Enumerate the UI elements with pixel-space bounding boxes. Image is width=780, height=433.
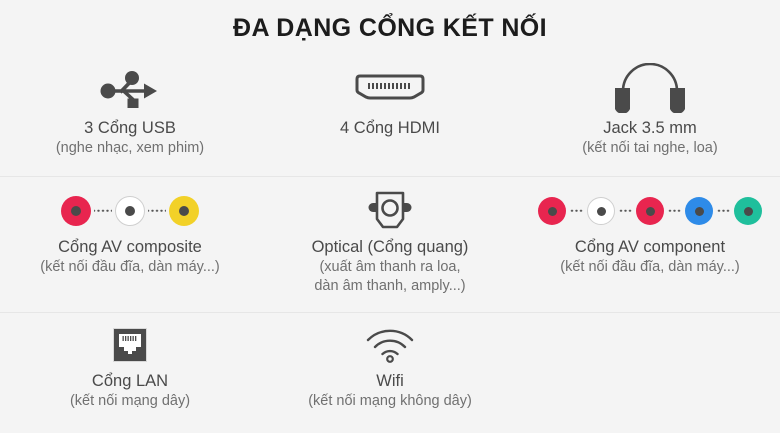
feature-subtitle-line: dàn âm thanh, amply...)	[314, 277, 465, 295]
headphones-icon	[614, 63, 686, 113]
feature-subtitle: (kết nối tai nghe, loa)	[582, 139, 717, 157]
usb-icon	[99, 68, 161, 108]
rca-plug-red	[61, 196, 91, 226]
rca-plug-red	[538, 197, 566, 225]
hdmi-icon-box	[351, 62, 429, 114]
rca-plug-pin	[548, 207, 557, 216]
rj45-socket-shape	[118, 333, 142, 357]
rca-plug-pin	[646, 207, 655, 216]
ethernet-port-icon	[113, 328, 147, 362]
feature-subtitle-line: (kết nối đầu đĩa, dàn máy...)	[560, 258, 739, 276]
feature-subtitle-line: (nghe nhạc, xem phim)	[56, 139, 204, 157]
lan-icon-box	[113, 323, 147, 367]
hdmi-port-icon	[351, 71, 429, 105]
rca-plug-red-2	[636, 197, 664, 225]
cable-dots	[618, 209, 633, 213]
rca-plug-pin	[125, 206, 135, 216]
feature-jack35: Jack 3.5 mm (kết nối tai nghe, loa)	[520, 56, 780, 158]
feature-subtitle-line: (kết nối tai nghe, loa)	[582, 139, 717, 157]
feature-subtitle-line: (kết nối mạng không dây)	[308, 392, 472, 410]
optical-icon-box	[366, 189, 414, 233]
wifi-icon-box	[364, 323, 416, 367]
cable-dots	[667, 209, 682, 213]
rca-plug-white	[587, 197, 615, 225]
rca-component-icon-box	[538, 189, 762, 233]
feature-subtitle: (kết nối đầu đĩa, dàn máy...)	[40, 258, 219, 276]
rca-plug-pin	[744, 207, 753, 216]
feature-av-composite: Cổng AV composite (kết nối đầu đĩa, dàn …	[0, 177, 260, 277]
rca-composite-icon-box	[61, 189, 199, 233]
feature-subtitle-line: (kết nối đầu đĩa, dàn máy...)	[40, 258, 219, 276]
feature-subtitle: (kết nối mạng không dây)	[308, 392, 472, 410]
feature-subtitle: (nghe nhạc, xem phim)	[56, 139, 204, 157]
feature-row-2: Cổng AV composite (kết nối đầu đĩa, dàn …	[0, 176, 780, 313]
feature-title: Cổng AV component	[575, 238, 725, 257]
wifi-icon	[364, 326, 416, 364]
feature-title: Optical (Cổng quang)	[312, 238, 469, 257]
feature-title: Cổng AV composite	[58, 238, 202, 257]
feature-hdmi: 4 Cổng HDMI	[260, 56, 520, 138]
feature-title: Cổng LAN	[92, 372, 168, 391]
feature-title: Wifi	[376, 372, 404, 391]
feature-empty-slot	[520, 313, 780, 323]
feature-optical: Optical (Cổng quang) (xuất âm thanh ra l…	[260, 177, 520, 295]
feature-usb: 3 Cổng USB (nghe nhạc, xem phim)	[0, 56, 260, 158]
cable-dots	[716, 209, 731, 213]
cable-dots	[94, 209, 112, 213]
cable-dots	[569, 209, 584, 213]
cable-dots	[148, 209, 166, 213]
feature-wifi: Wifi (kết nối mạng không dây)	[260, 313, 520, 411]
rca-plug-pin	[695, 207, 704, 216]
rca-plugs-icon	[61, 196, 199, 226]
feature-row-1: 3 Cổng USB (nghe nhạc, xem phim)	[0, 56, 780, 176]
rca-plug-white	[115, 196, 145, 226]
optical-port-icon	[366, 189, 414, 233]
rca-plug-blue	[685, 197, 713, 225]
rca-plug-pin	[597, 207, 606, 216]
feature-row-3: Cổng LAN (kết nối mạng dây) Wifi (kết	[0, 313, 780, 433]
rca-plug-pin	[179, 206, 189, 216]
feature-subtitle: (kết nối mạng dây)	[70, 392, 190, 410]
usb-icon-box	[99, 62, 161, 114]
feature-subtitle: (xuất âm thanh ra loa, dàn âm thanh, amp…	[314, 258, 465, 294]
rca-plug-green	[734, 197, 762, 225]
feature-title: 3 Cổng USB	[84, 119, 176, 138]
page-title: ĐA DẠNG CỔNG KẾT NỐI	[233, 16, 547, 41]
feature-subtitle-line: (xuất âm thanh ra loa,	[314, 258, 465, 276]
title-bar: ĐA DẠNG CỔNG KẾT NỐI	[0, 0, 780, 56]
feature-av-component: Cổng AV component (kết nối đầu đĩa, dàn …	[520, 177, 780, 277]
rca-plugs-icon	[538, 197, 762, 225]
feature-subtitle: (kết nối đầu đĩa, dàn máy...)	[560, 258, 739, 276]
rca-plug-pin	[71, 206, 81, 216]
feature-subtitle-line: (kết nối mạng dây)	[70, 392, 190, 410]
connectivity-infographic: ĐA DẠNG CỔNG KẾT NỐI 3 Cổng	[0, 0, 780, 433]
feature-title: Jack 3.5 mm	[603, 119, 697, 138]
feature-title: 4 Cổng HDMI	[340, 119, 440, 138]
rca-plug-yellow	[169, 196, 199, 226]
headphones-icon-box	[614, 62, 686, 114]
feature-lan: Cổng LAN (kết nối mạng dây)	[0, 313, 260, 411]
